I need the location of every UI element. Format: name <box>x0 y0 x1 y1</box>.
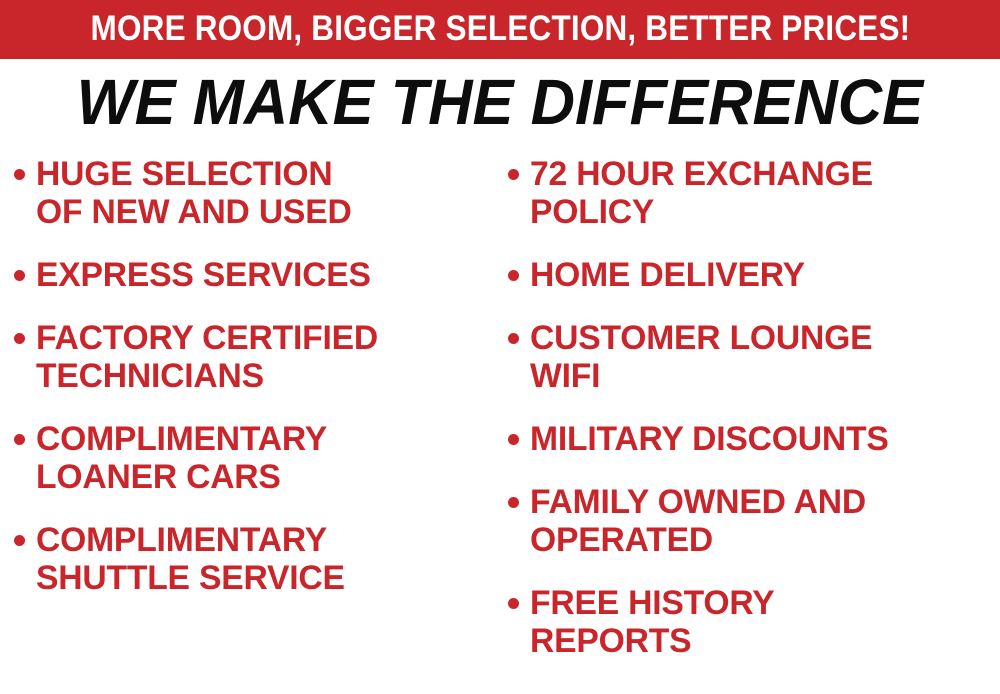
list-item-label: EXPRESS SERVICES <box>36 256 489 294</box>
list-item-label: FREE HISTORY REPORTS <box>530 584 995 660</box>
top-banner: MORE ROOM, BIGGER SELECTION, BETTER PRIC… <box>0 0 1000 59</box>
list-item: HUGE SELECTION OF NEW AND USED <box>14 155 494 231</box>
list-item-label: CUSTOMER LOUNGE WIFI <box>530 319 995 395</box>
list-item-label: 72 HOUR EXCHANGE POLICY <box>530 155 995 231</box>
bullet-dot-icon <box>508 169 519 180</box>
list-item: EXPRESS SERVICES <box>14 256 494 294</box>
main-headline-text: WE MAKE THE DIFFERENCE <box>77 70 924 134</box>
list-item: FREE HISTORY REPORTS <box>508 584 1000 660</box>
benefits-column-right: 72 HOUR EXCHANGE POLICY HOME DELIVERY CU… <box>508 155 1000 660</box>
bullet-dot-icon <box>508 497 519 508</box>
list-item-label: COMPLIMENTARY LOANER CARS <box>36 420 489 496</box>
list-item-label: FAMILY OWNED AND OPERATED <box>530 483 995 559</box>
main-headline-container: WE MAKE THE DIFFERENCE <box>0 66 1000 138</box>
benefits-column-left: HUGE SELECTION OF NEW AND USED EXPRESS S… <box>14 155 494 597</box>
list-item-label: HOME DELIVERY <box>530 256 995 294</box>
list-item: FACTORY CERTIFIED TECHNICIANS <box>14 319 494 395</box>
bullet-dot-icon <box>14 535 25 546</box>
bullet-dot-icon <box>508 333 519 344</box>
bullet-dot-icon <box>14 434 25 445</box>
bullet-dot-icon <box>14 169 25 180</box>
list-item-label: MILITARY DISCOUNTS <box>530 420 995 458</box>
list-item: CUSTOMER LOUNGE WIFI <box>508 319 1000 395</box>
poster-canvas: MORE ROOM, BIGGER SELECTION, BETTER PRIC… <box>0 0 1000 694</box>
list-item-label: FACTORY CERTIFIED TECHNICIANS <box>36 319 489 395</box>
list-item: FAMILY OWNED AND OPERATED <box>508 483 1000 559</box>
list-item: 72 HOUR EXCHANGE POLICY <box>508 155 1000 231</box>
list-item: COMPLIMENTARY LOANER CARS <box>14 420 494 496</box>
bullet-dot-icon <box>14 270 25 281</box>
bullet-dot-icon <box>508 598 519 609</box>
bullet-dot-icon <box>508 270 519 281</box>
bullet-dot-icon <box>14 333 25 344</box>
banner-headline-text: MORE ROOM, BIGGER SELECTION, BETTER PRIC… <box>90 11 910 48</box>
list-item: MILITARY DISCOUNTS <box>508 420 1000 458</box>
list-item-label: HUGE SELECTION OF NEW AND USED <box>36 155 489 231</box>
list-item: COMPLIMENTARY SHUTTLE SERVICE <box>14 521 494 597</box>
bullet-dot-icon <box>508 434 519 445</box>
list-item: HOME DELIVERY <box>508 256 1000 294</box>
benefits-columns: HUGE SELECTION OF NEW AND USED EXPRESS S… <box>0 155 1000 694</box>
list-item-label: COMPLIMENTARY SHUTTLE SERVICE <box>36 521 489 597</box>
